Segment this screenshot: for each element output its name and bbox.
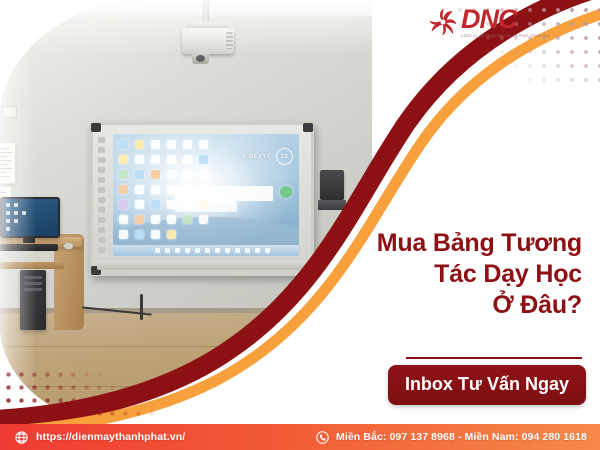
desktop-selection-box <box>175 186 273 201</box>
website-url: https://dienmaythanhphat.vn/ <box>36 431 185 443</box>
headline-line-1: Mua Bảng Tương <box>312 228 582 259</box>
dnc-logo[interactable]: DNC CÔNG TY CỔ PHẦN ĐẦU TƯ VÀ PHÁT TRIỂN… <box>428 6 551 38</box>
globe-icon <box>14 430 29 445</box>
taskbar <box>113 245 299 256</box>
phone-icon <box>315 430 330 445</box>
classroom-photo: F DEVYT 23 <box>0 0 372 424</box>
footer-website[interactable]: https://dienmaythanhphat.vn/ <box>14 430 185 445</box>
projected-desktop-screen: F DEVYT 23 <box>113 134 299 256</box>
whiteboard-corner <box>91 123 101 132</box>
screen-watermark-text: F DEVYT <box>243 154 271 160</box>
headline-line-2: Tác Dạy Học <box>312 259 582 290</box>
phone-numbers: Miền Bắc: 097 137 8968 - Miền Nam: 094 2… <box>336 431 587 443</box>
photo-top-fade <box>0 0 372 54</box>
screen-green-icon <box>280 186 292 198</box>
wall-mounted-bracket <box>318 200 346 210</box>
headline: Mua Bảng Tương Tác Dạy Học Ở Đâu? <box>312 228 582 321</box>
whiteboard-corner <box>303 123 313 132</box>
whiteboard-side-rail <box>98 137 107 257</box>
whiteboard-pen-tray <box>97 261 305 270</box>
promo-banner: F DEVYT 23 <box>0 0 600 450</box>
footer-bar: https://dienmaythanhphat.vn/ Miền Bắc: 0… <box>0 424 600 450</box>
logo-tagline: CÔNG TY CỔ PHẦN ĐẦU TƯ VÀ PHÁT TRIỂN DNC <box>461 35 551 38</box>
interactive-whiteboard: F DEVYT 23 <box>90 122 314 276</box>
screen-badge: 23 <box>276 148 293 165</box>
mouse <box>64 243 73 249</box>
photo-left-fade <box>0 0 36 424</box>
wall-mounted-speaker <box>320 170 344 200</box>
desktop-selection-box <box>175 200 237 212</box>
inbox-consult-button[interactable]: Inbox Tư Vấn Ngay <box>388 365 586 405</box>
logo-wordmark: DNC <box>461 6 551 33</box>
footer-phones[interactable]: Miền Bắc: 097 137 8968 - Miền Nam: 094 2… <box>315 430 587 445</box>
cable <box>140 294 143 320</box>
screen-watermark: F DEVYT 23 <box>243 148 293 165</box>
headline-line-3: Ở Đâu? <box>312 290 582 321</box>
headline-divider <box>406 357 582 359</box>
pinwheel-swirl-icon <box>428 7 458 37</box>
